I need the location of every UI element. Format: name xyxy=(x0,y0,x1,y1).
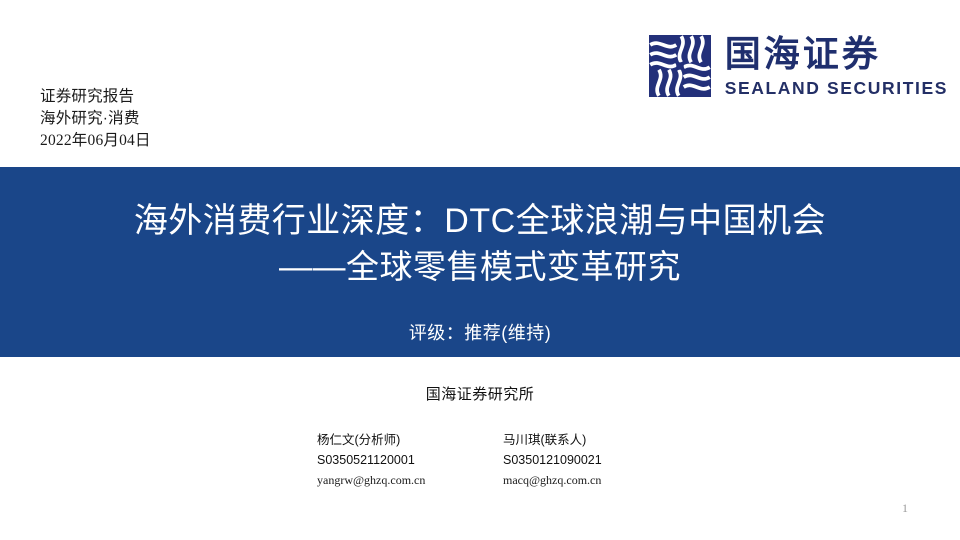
author-license: S0350121090021 xyxy=(503,450,643,470)
author-email[interactable]: yangrw@ghzq.com.cn xyxy=(317,470,457,490)
title-banner: 海外消费行业深度：DTC全球浪潮与中国机会 ——全球零售模式变革研究 评级：推荐… xyxy=(0,167,960,357)
page-title-line-1: 海外消费行业深度：DTC全球浪潮与中国机会 xyxy=(0,199,960,244)
author-email[interactable]: macq@ghzq.com.cn xyxy=(503,470,643,490)
logo-name-en: SEALAND SECURITIES xyxy=(725,77,948,99)
title-wrap: 海外消费行业深度：DTC全球浪潮与中国机会 ——全球零售模式变革研究 xyxy=(0,199,960,289)
logo-text-block: 国海证券 SEALAND SECURITIES xyxy=(725,32,948,99)
report-date: 2022年06月04日 xyxy=(40,130,151,152)
page-title-line-2: ——全球零售模式变革研究 xyxy=(0,244,960,289)
report-meta-block: 证券研究报告 海外研究·消费 2022年06月04日 xyxy=(40,86,151,152)
page-header: 证券研究报告 海外研究·消费 2022年06月04日 xyxy=(0,0,960,167)
logo-name-cn: 国海证券 xyxy=(725,34,881,74)
rating-label: 评级：推荐(维持) xyxy=(0,319,960,345)
slide-cover-page: 证券研究报告 海外研究·消费 2022年06月04日 xyxy=(0,0,960,540)
page-number: 1 xyxy=(902,501,908,516)
author-name: 马川琪(联系人) xyxy=(503,430,643,450)
report-sector-label: 海外研究·消费 xyxy=(40,108,151,130)
author-column: 马川琪(联系人) S0350121090021 macq@ghzq.com.cn xyxy=(503,430,643,490)
sealand-wave-logo-icon xyxy=(649,35,711,97)
author-column: 杨仁文(分析师) S0350521120001 yangrw@ghzq.com.… xyxy=(317,430,457,490)
authors-block: 杨仁文(分析师) S0350521120001 yangrw@ghzq.com.… xyxy=(0,430,960,490)
company-logo: 国海证券 SEALAND SECURITIES xyxy=(649,32,948,99)
author-name: 杨仁文(分析师) xyxy=(317,430,457,450)
report-type-label: 证券研究报告 xyxy=(40,86,151,108)
institute-label: 国海证券研究所 xyxy=(0,383,960,404)
author-license: S0350521120001 xyxy=(317,450,457,470)
